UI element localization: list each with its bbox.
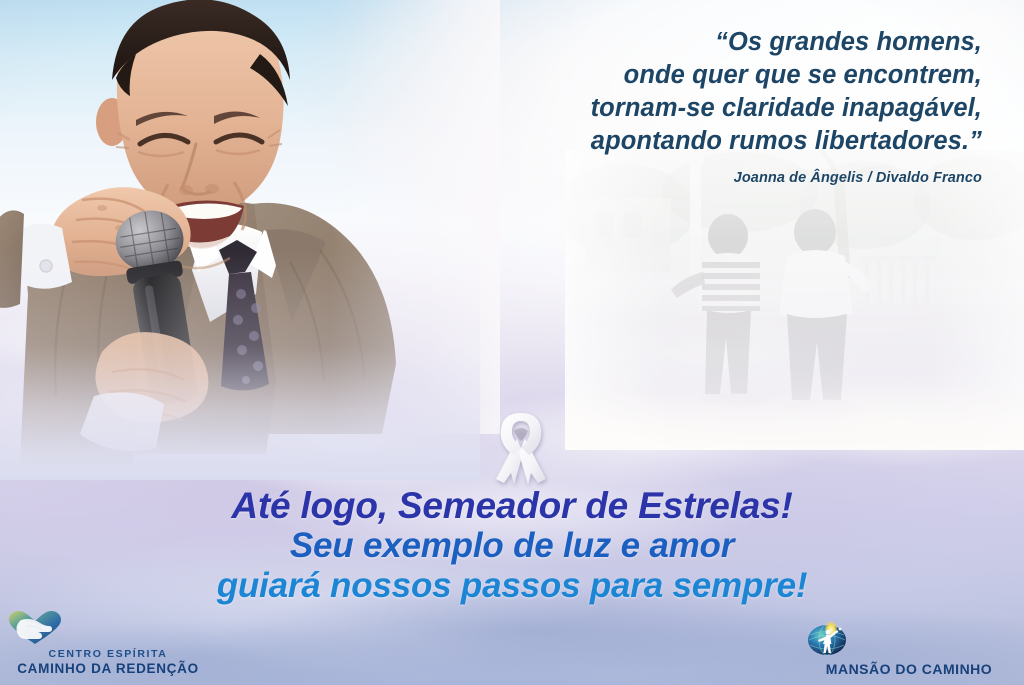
globe-figure-icon (804, 618, 1014, 658)
message-line-3: guiará nossos passos para sempre! (0, 566, 1024, 606)
message-line-2: Seu exemplo de luz e amor (0, 526, 1024, 566)
logo-left-line-2: CAMINHO DA REDENÇÃO (8, 661, 208, 677)
logo-mansao-do-caminho[interactable]: MANSÃO DO CAMINHO (804, 618, 1014, 677)
quote-line-4: apontando rumos libertadores.” (322, 125, 982, 158)
quote-attribution: Joanna de Ângelis / Divaldo Franco (322, 170, 982, 186)
quote-line-2: onde quer que se encontrem, (322, 59, 982, 92)
memorial-poster: “Os grandes homens, onde quer que se enc… (0, 0, 1024, 685)
message-line-1: Até logo, Semeador de Estrelas! (0, 486, 1024, 526)
logo-left-line-1: CENTRO ESPÍRITA (8, 648, 208, 661)
logo-right-line-2: MANSÃO DO CAMINHO (804, 661, 1014, 677)
quote-line-3: tornam-se claridade inapagável, (322, 92, 982, 125)
mourning-ribbon-icon (487, 409, 555, 487)
quote-line-1: “Os grandes homens, (322, 26, 982, 59)
heart-hands-icon (8, 611, 208, 645)
scene-photo-fade (565, 150, 1024, 450)
logo-centro-espirita-caminho-da-redencao[interactable]: CENTRO ESPÍRITA CAMINHO DA REDENÇÃO (8, 611, 208, 677)
farewell-message: Até logo, Semeador de Estrelas! Seu exem… (0, 486, 1024, 606)
quote-block: “Os grandes homens, onde quer que se enc… (322, 26, 982, 186)
